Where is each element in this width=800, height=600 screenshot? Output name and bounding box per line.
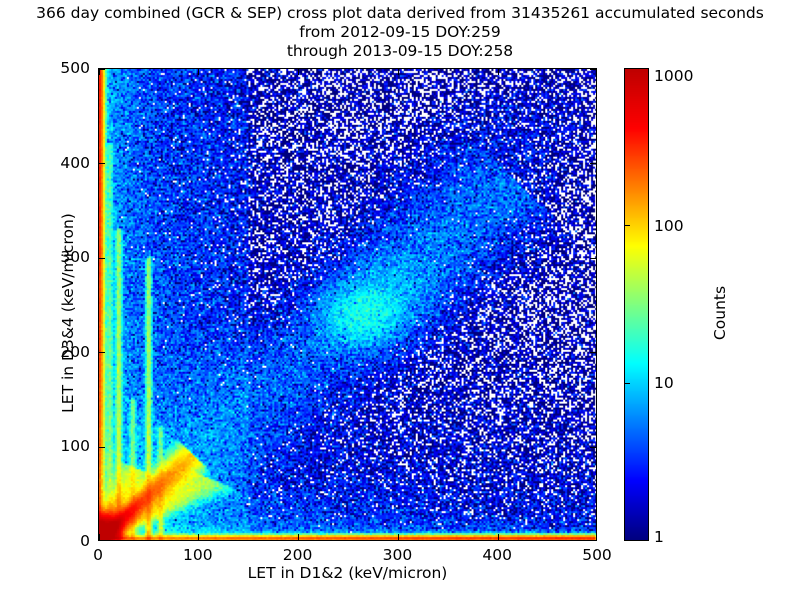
x-axis-title: LET in D1&2 (keV/micron)	[98, 564, 597, 582]
x-tick-mark	[298, 69, 299, 75]
y-tick-mark	[590, 163, 596, 164]
y-tick-label: 500	[0, 59, 90, 77]
x-tick-label: 500	[582, 546, 612, 564]
x-tick-mark	[398, 69, 399, 75]
y-tick-mark	[590, 69, 596, 70]
y-tick-label: 0	[0, 532, 90, 550]
colorbar: 1101001000	[624, 68, 649, 541]
figure-title: 366 day combined (GCR & SEP) cross plot …	[0, 4, 800, 61]
y-tick-mark	[590, 447, 596, 448]
colorbar-tick-mark	[624, 225, 630, 226]
x-tick-label: 0	[93, 546, 103, 564]
colorbar-title: Counts	[711, 213, 729, 413]
colorbar-tick-label: 1	[654, 528, 664, 546]
x-tick-mark	[99, 534, 100, 540]
y-tick-mark	[99, 69, 105, 70]
density-heatmap	[99, 69, 596, 540]
x-tick-mark	[298, 534, 299, 540]
x-tick-mark	[198, 534, 199, 540]
title-line-3: through 2013-09-15 DOY:258	[0, 42, 800, 61]
x-tick-mark	[498, 69, 499, 75]
x-tick-label: 200	[283, 546, 313, 564]
colorbar-gradient	[624, 68, 649, 541]
y-axis-title: LET in D3&4 (keV/micron)	[59, 183, 77, 443]
colorbar-tick-label: 1000	[654, 67, 693, 85]
colorbar-tick-mark	[624, 383, 630, 384]
x-tick-label: 400	[482, 546, 512, 564]
y-tick-mark	[590, 352, 596, 353]
title-line-1: 366 day combined (GCR & SEP) cross plot …	[0, 4, 800, 23]
x-tick-mark	[198, 69, 199, 75]
y-tick-mark	[99, 163, 105, 164]
x-tick-label: 100	[183, 546, 213, 564]
y-tick-label: 400	[0, 154, 90, 172]
plot-area	[98, 68, 597, 541]
x-tick-mark	[498, 534, 499, 540]
x-tick-mark	[398, 534, 399, 540]
title-line-2: from 2012-09-15 DOY:259	[0, 23, 800, 42]
colorbar-tick-label: 100	[654, 217, 684, 235]
y-tick-mark	[99, 447, 105, 448]
colorbar-tick-label: 10	[654, 374, 674, 392]
y-tick-mark	[99, 258, 105, 259]
figure-canvas: 366 day combined (GCR & SEP) cross plot …	[0, 0, 800, 600]
x-tick-label: 300	[383, 546, 413, 564]
y-tick-mark	[590, 258, 596, 259]
y-tick-mark	[99, 352, 105, 353]
